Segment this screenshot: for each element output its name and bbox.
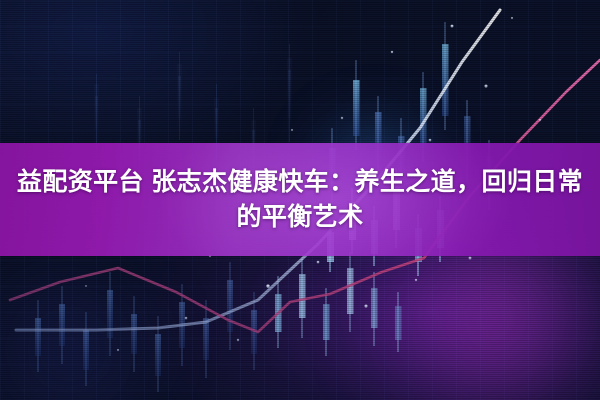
banner-image: 益配资平台 张志杰健康快车：养生之道，回归日常的平衡艺术 xyxy=(0,0,600,400)
banner-title: 益配资平台 张志杰健康快车：养生之道，回归日常的平衡艺术 xyxy=(0,143,600,256)
